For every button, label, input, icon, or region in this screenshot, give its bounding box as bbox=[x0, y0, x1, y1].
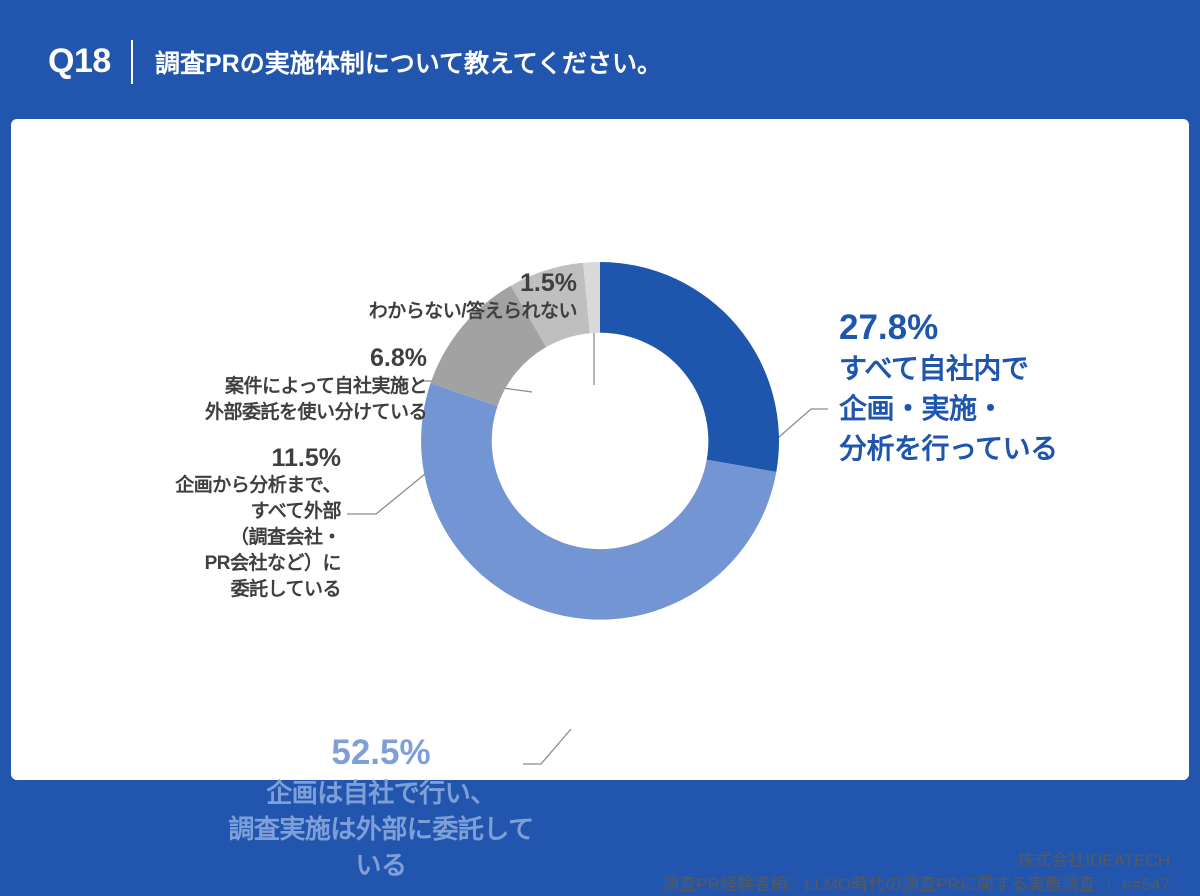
question-number: Q18 bbox=[48, 44, 111, 78]
label-all-outsourced-line1: 企画から分析まで、 bbox=[89, 473, 341, 499]
label-inhouse-line3: 分析を行っている bbox=[839, 429, 1058, 469]
label-all-outsourced-line3: （調査会社・ bbox=[89, 525, 341, 551]
label-all-outsourced-line5: 委託している bbox=[89, 577, 341, 603]
label-all-outsourced: 11.5% 企画から分析まで、 すべて外部 （調査会社・ PR会社など）に 委託… bbox=[89, 443, 341, 603]
label-inhouse-pct: 27.8% bbox=[839, 307, 1058, 349]
donut-chart: 27.8% すべて自社内で 企画・実施・ 分析を行っている 52.5% 企画は自… bbox=[11, 119, 1189, 780]
label-mixed-line2: 調査実施は外部に委託している bbox=[221, 811, 541, 883]
label-case-by-case-line2: 外部委託を使い分けている bbox=[137, 400, 427, 426]
label-dont-know-line1: わからない/答えられない bbox=[283, 299, 577, 325]
label-inhouse: 27.8% すべて自社内で 企画・実施・ 分析を行っている bbox=[839, 307, 1058, 469]
footer-survey-name: 調査PR経験者編：LLMO時代の調査PRに関する実態調査 ｜ n=547 bbox=[662, 874, 1170, 896]
slice-inhouse bbox=[600, 262, 779, 472]
label-dont-know: 1.5% わからない/答えられない bbox=[283, 268, 577, 325]
header-bar: Q18 調査PRの実施体制について教えてください。 bbox=[0, 0, 1200, 118]
label-inhouse-line1: すべて自社内で bbox=[839, 349, 1058, 389]
label-case-by-case: 6.8% 案件によって自社実施と 外部委託を使い分けている bbox=[137, 343, 427, 426]
label-case-by-case-line1: 案件によって自社実施と bbox=[137, 374, 427, 400]
label-inhouse-line2: 企画・実施・ bbox=[839, 389, 1058, 429]
header-divider bbox=[131, 40, 133, 84]
footer-company: 株式会社IDEATECH bbox=[1017, 850, 1170, 872]
footer: 株式会社IDEATECH 調査PR経験者編：LLMO時代の調査PRに関する実態調… bbox=[11, 719, 1189, 780]
label-case-by-case-pct: 6.8% bbox=[137, 343, 427, 374]
label-dont-know-pct: 1.5% bbox=[283, 268, 577, 299]
label-mixed-line1: 企画は自社で行い、 bbox=[221, 775, 541, 811]
leader-line-inhouse bbox=[771, 409, 828, 444]
content-panel: 27.8% すべて自社内で 企画・実施・ 分析を行っている 52.5% 企画は自… bbox=[11, 119, 1189, 780]
question-title: 調査PRの実施体制について教えてください。 bbox=[155, 49, 662, 79]
label-all-outsourced-line4: PR会社など）に bbox=[89, 551, 341, 577]
label-all-outsourced-line2: すべて外部 bbox=[89, 499, 341, 525]
label-all-outsourced-pct: 11.5% bbox=[89, 443, 341, 473]
